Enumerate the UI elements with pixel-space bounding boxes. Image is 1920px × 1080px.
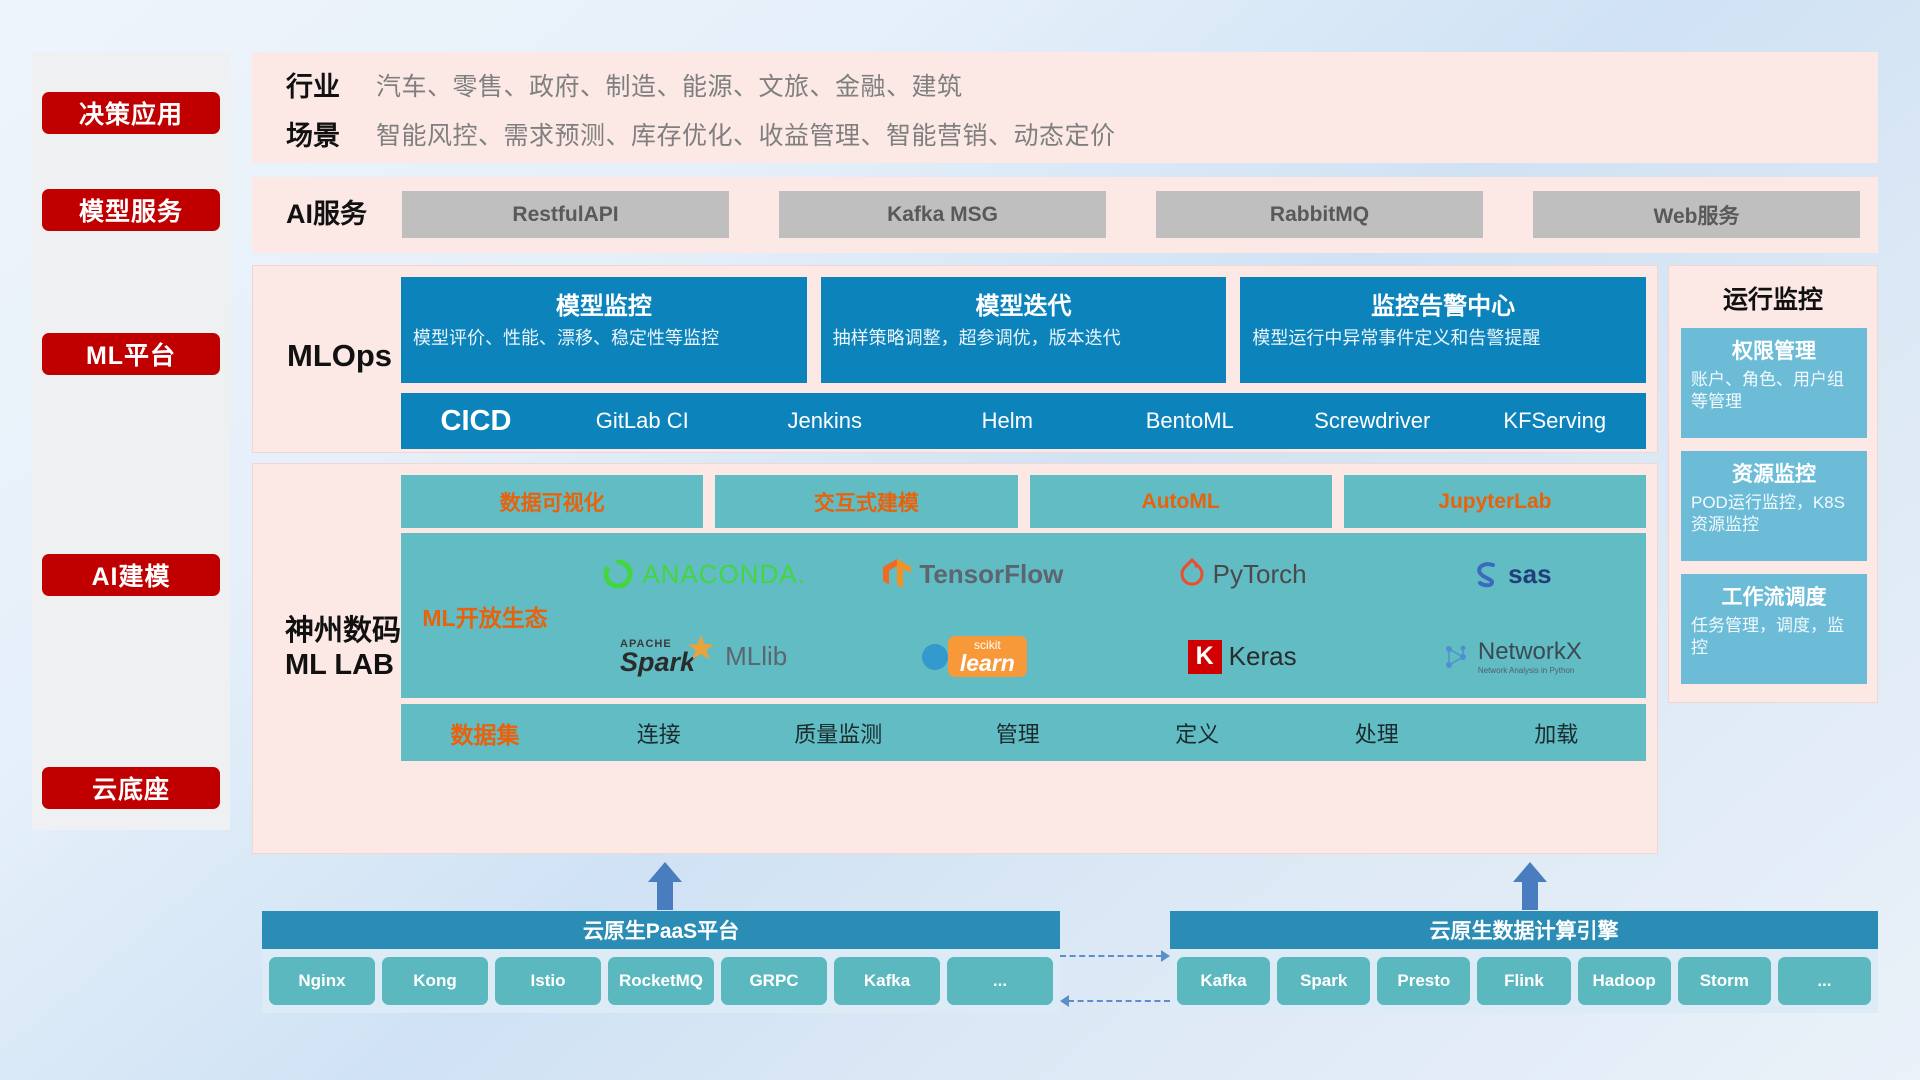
ai-service-label: AI服务: [286, 199, 367, 231]
architecture-diagram: 决策应用 模型服务 ML平台 AI建模 云底座 行业 汽车、零售、政府、制造、能…: [0, 0, 1920, 1080]
mlops-panel: MLOps 模型监控 模型评价、性能、漂移、稳定性等监控 模型迭代 抽样策略调整…: [252, 265, 1658, 453]
cicd-bar: CICD GitLab CI Jenkins Helm BentoML Scre…: [401, 393, 1646, 449]
compute-chip-kafka[interactable]: Kafka: [1177, 957, 1270, 1005]
industry-value: 汽车、零售、政府、制造、能源、文旅、金融、建筑: [376, 67, 963, 103]
ai-service-web[interactable]: Web服务: [1533, 191, 1860, 238]
tensorflow-mark-icon: [882, 557, 912, 591]
card-desc: 模型运行中异常事件定义和告警提醒: [1252, 327, 1634, 351]
paas-chip-istio[interactable]: Istio: [495, 957, 601, 1005]
spark-wordmark: Spark: [620, 650, 695, 676]
lab-chip-automl[interactable]: AutoML: [1030, 475, 1332, 528]
ml-lab-chip-list: 数据可视化 交互式建模 AutoML JupyterLab: [401, 475, 1646, 528]
lab-chip-interactive-modeling[interactable]: 交互式建模: [715, 475, 1017, 528]
paas-title: 云原生PaaS平台: [262, 911, 1060, 949]
card-desc: POD运行监控，K8S资源监控: [1691, 492, 1857, 536]
spark-mllib-logo: APACHE Spark MLlib: [620, 638, 787, 676]
compute-chip-presto[interactable]: Presto: [1377, 957, 1470, 1005]
paas-chip-more[interactable]: ...: [947, 957, 1053, 1005]
ecosystem-logo-grid: ANACONDA. TensorFlow PyTorch: [569, 533, 1646, 698]
card-title: 监控告警中心: [1371, 286, 1515, 321]
compute-chip-more[interactable]: ...: [1778, 957, 1871, 1005]
rail-tag-ml-platform[interactable]: ML平台: [42, 333, 220, 375]
sas-logo: sas: [1471, 559, 1551, 590]
scenario-label: 场景: [286, 114, 376, 153]
keras-wordmark: Keras: [1229, 641, 1297, 672]
lab-chip-jupyterlab[interactable]: JupyterLab: [1344, 475, 1646, 528]
compute-title: 云原生数据计算引擎: [1170, 911, 1878, 949]
cicd-tool-kfserving[interactable]: KFServing: [1464, 409, 1647, 432]
dataset-item-quality[interactable]: 质量监测: [749, 717, 929, 749]
compute-chip-hadoop[interactable]: Hadoop: [1578, 957, 1671, 1005]
card-title: 权限管理: [1691, 335, 1857, 365]
mlops-card-model-monitoring[interactable]: 模型监控 模型评价、性能、漂移、稳定性等监控: [401, 277, 807, 383]
cloud-native-paas-group: 云原生PaaS平台 Nginx Kong Istio RocketMQ GRPC…: [262, 911, 1060, 1013]
layer-rail: [32, 52, 230, 830]
decision-application-panel: 行业 汽车、零售、政府、制造、能源、文旅、金融、建筑 场景 智能风控、需求预测、…: [252, 52, 1878, 163]
paas-chip-list: Nginx Kong Istio RocketMQ GRPC Kafka ...: [262, 949, 1060, 1013]
card-desc: 账户、角色、用户组等管理: [1691, 369, 1857, 413]
cicd-tool-jenkins[interactable]: Jenkins: [734, 409, 917, 432]
scikit-learn-logo: scikit learn: [919, 636, 1027, 677]
rail-tag-ai-modeling[interactable]: AI建模: [42, 554, 220, 596]
paas-up-arrow-icon: [648, 862, 682, 910]
tensorflow-wordmark: TensorFlow: [919, 559, 1063, 590]
ai-service-kafka-msg[interactable]: Kafka MSG: [779, 191, 1106, 238]
mlops-card-alert-center[interactable]: 监控告警中心 模型运行中异常事件定义和告警提醒: [1240, 277, 1646, 383]
industry-row: 行业 汽车、零售、政府、制造、能源、文旅、金融、建筑: [286, 65, 963, 104]
dataset-title: 数据集: [401, 716, 569, 750]
card-desc: 抽样策略调整，超参调优，版本迭代: [833, 327, 1215, 351]
monitoring-card-resource[interactable]: 资源监控 POD运行监控，K8S资源监控: [1681, 451, 1867, 561]
compute-chip-spark[interactable]: Spark: [1277, 957, 1370, 1005]
dataset-item-load[interactable]: 加载: [1467, 717, 1647, 749]
industry-label: 行业: [286, 65, 376, 104]
paas-chip-grpc[interactable]: GRPC: [721, 957, 827, 1005]
ml-open-ecosystem-block: ML开放生态 ANACONDA. TensorFlow: [401, 533, 1646, 698]
compute-up-arrow-icon: [1513, 862, 1547, 910]
ml-lab-panel: 神州数码 ML LAB 数据可视化 交互式建模 AutoML JupyterLa…: [252, 463, 1658, 854]
networkx-wordmark: NetworkX: [1478, 638, 1582, 666]
ml-lab-label: 神州数码 ML LAB: [285, 614, 401, 682]
spark-star-icon: [688, 635, 714, 661]
cicd-tool-helm[interactable]: Helm: [916, 409, 1099, 432]
mllib-wordmark: MLlib: [725, 641, 787, 672]
keras-mark-icon: K: [1188, 640, 1222, 674]
rail-tag-model-service[interactable]: 模型服务: [42, 189, 220, 231]
card-title: 资源监控: [1691, 458, 1857, 488]
pytorch-wordmark: PyTorch: [1213, 559, 1307, 590]
cicd-tool-gitlab-ci[interactable]: GitLab CI: [551, 409, 734, 432]
runtime-monitoring-panel: 运行监控 权限管理 账户、角色、用户组等管理 资源监控 POD运行监控，K8S资…: [1668, 265, 1878, 703]
anaconda-logo: ANACONDA.: [601, 557, 806, 591]
anaconda-wordmark: ANACONDA.: [642, 559, 806, 590]
sas-mark-icon: [1471, 559, 1501, 589]
compute-chip-flink[interactable]: Flink: [1477, 957, 1570, 1005]
ml-open-ecosystem-label: ML开放生态: [401, 599, 569, 633]
tensorflow-logo: TensorFlow: [882, 557, 1063, 591]
paas-to-compute-arrow-icon: [1060, 955, 1170, 957]
rail-tag-decision-app[interactable]: 决策应用: [42, 92, 220, 134]
ai-service-box-list: RestfulAPI Kafka MSG RabbitMQ Web服务: [402, 191, 1860, 238]
dataset-item-process[interactable]: 处理: [1287, 717, 1467, 749]
dataset-item-connect[interactable]: 连接: [569, 717, 749, 749]
card-title: 模型迭代: [976, 286, 1072, 321]
card-desc: 模型评价、性能、漂移、稳定性等监控: [413, 327, 795, 351]
networkx-tagline: Network Analysis in Python: [1478, 666, 1575, 675]
learn-wordmark: learn: [960, 652, 1015, 675]
rail-tag-cloud-base[interactable]: 云底座: [42, 767, 220, 809]
ai-service-restfulapi[interactable]: RestfulAPI: [402, 191, 729, 238]
paas-chip-kafka[interactable]: Kafka: [834, 957, 940, 1005]
cicd-title: CICD: [401, 405, 551, 438]
cicd-tool-screwdriver[interactable]: Screwdriver: [1281, 409, 1464, 432]
paas-chip-kong[interactable]: Kong: [382, 957, 488, 1005]
dataset-item-manage[interactable]: 管理: [928, 717, 1108, 749]
mlops-card-model-iteration[interactable]: 模型迭代 抽样策略调整，超参调优，版本迭代: [821, 277, 1227, 383]
paas-chip-nginx[interactable]: Nginx: [269, 957, 375, 1005]
keras-logo: K Keras: [1188, 640, 1297, 674]
compute-chip-list: Kafka Spark Presto Flink Hadoop Storm ..…: [1170, 949, 1878, 1013]
anaconda-mark-icon: [601, 557, 635, 591]
networkx-logo: NetworkX Network Analysis in Python: [1441, 638, 1582, 675]
networkx-mark-icon: [1441, 642, 1471, 672]
pytorch-logo: PyTorch: [1178, 558, 1307, 590]
ai-service-panel: AI服务 RestfulAPI Kafka MSG RabbitMQ Web服务: [252, 177, 1878, 253]
scikit-blue-circle-icon: [919, 641, 951, 673]
scenario-value: 智能风控、需求预测、库存优化、收益管理、智能营销、动态定价: [376, 116, 1116, 152]
dataset-item-define[interactable]: 定义: [1108, 717, 1288, 749]
sas-wordmark: sas: [1508, 559, 1551, 590]
dataset-row: 数据集 连接 质量监测 管理 定义 处理 加载: [401, 704, 1646, 761]
pytorch-mark-icon: [1178, 558, 1206, 590]
lab-chip-data-visualization[interactable]: 数据可视化: [401, 475, 703, 528]
card-title: 模型监控: [556, 286, 652, 321]
monitoring-card-workflow[interactable]: 工作流调度 任务管理，调度，监控: [1681, 574, 1867, 684]
mlops-label: MLOps: [287, 338, 392, 375]
card-title: 工作流调度: [1691, 581, 1857, 611]
ai-service-rabbitmq[interactable]: RabbitMQ: [1156, 191, 1483, 238]
monitoring-card-permission[interactable]: 权限管理 账户、角色、用户组等管理: [1681, 328, 1867, 438]
cicd-tool-bentoml[interactable]: BentoML: [1099, 409, 1282, 432]
scenario-row: 场景 智能风控、需求预测、库存优化、收益管理、智能营销、动态定价: [286, 114, 1116, 153]
compute-to-paas-arrow-icon: [1060, 1000, 1170, 1002]
runtime-monitoring-title: 运行监控: [1669, 280, 1877, 316]
compute-chip-storm[interactable]: Storm: [1678, 957, 1771, 1005]
paas-chip-rocketmq[interactable]: RocketMQ: [608, 957, 714, 1005]
cloud-native-compute-group: 云原生数据计算引擎 Kafka Spark Presto Flink Hadoo…: [1170, 911, 1878, 1013]
card-desc: 任务管理，调度，监控: [1691, 615, 1857, 659]
mlops-card-list: 模型监控 模型评价、性能、漂移、稳定性等监控 模型迭代 抽样策略调整，超参调优，…: [401, 277, 1646, 383]
